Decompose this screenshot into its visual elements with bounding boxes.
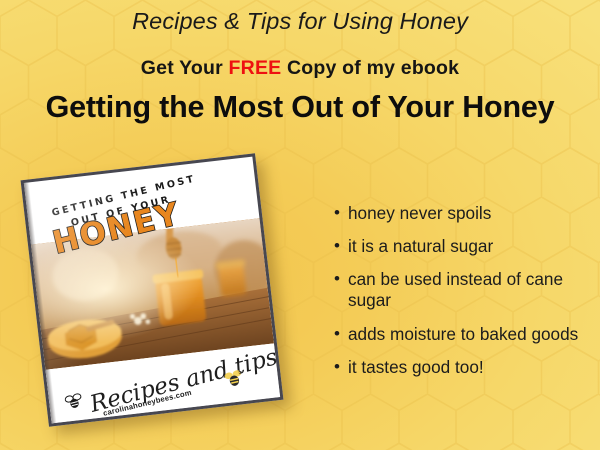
bee-icon [222, 368, 248, 394]
bullet-icon: • [334, 203, 348, 224]
list-item-label: honey never spoils [348, 203, 586, 224]
bullet-icon: • [334, 236, 348, 257]
headings-block: Recipes & Tips for Using Honey Get Your … [0, 0, 600, 125]
bullet-icon: • [334, 269, 348, 290]
free-highlight: FREE [229, 57, 282, 79]
bee-icon [63, 391, 87, 415]
bullet-icon: • [334, 357, 348, 378]
list-item: • honey never spoils [334, 203, 586, 224]
benefits-list: • honey never spoils • it is a natural s… [334, 203, 586, 378]
list-item-label: adds moisture to baked goods [348, 324, 586, 345]
page-title: Getting the Most Out of Your Honey [0, 90, 600, 125]
subheading-before: Get Your [141, 57, 229, 79]
kicker-heading: Recipes & Tips for Using Honey [0, 8, 600, 35]
ebook-cover[interactable]: GETTING THE MOST OUT OF YOUR HONEY Recip… [21, 153, 284, 426]
list-item: • it is a natural sugar [334, 236, 586, 257]
list-item-label: can be used instead of cane sugar [348, 269, 586, 311]
list-item: • adds moisture to baked goods [334, 324, 586, 345]
subheading-after: Copy of my ebook [281, 57, 459, 79]
list-item: • can be used instead of cane sugar [334, 269, 586, 311]
list-item: • it tastes good too! [334, 357, 586, 378]
cover-title-line-1: GETTING THE MOST [51, 173, 197, 218]
cover-title-line-2: OUT OF YOUR [70, 194, 172, 229]
bullet-icon: • [334, 324, 348, 345]
list-item-label: it tastes good too! [348, 357, 586, 378]
list-item-label: it is a natural sugar [348, 236, 586, 257]
ebook-cover-card[interactable]: GETTING THE MOST OUT OF YOUR HONEY Recip… [21, 153, 284, 426]
subheading: Get Your FREE Copy of my ebook [0, 57, 600, 80]
